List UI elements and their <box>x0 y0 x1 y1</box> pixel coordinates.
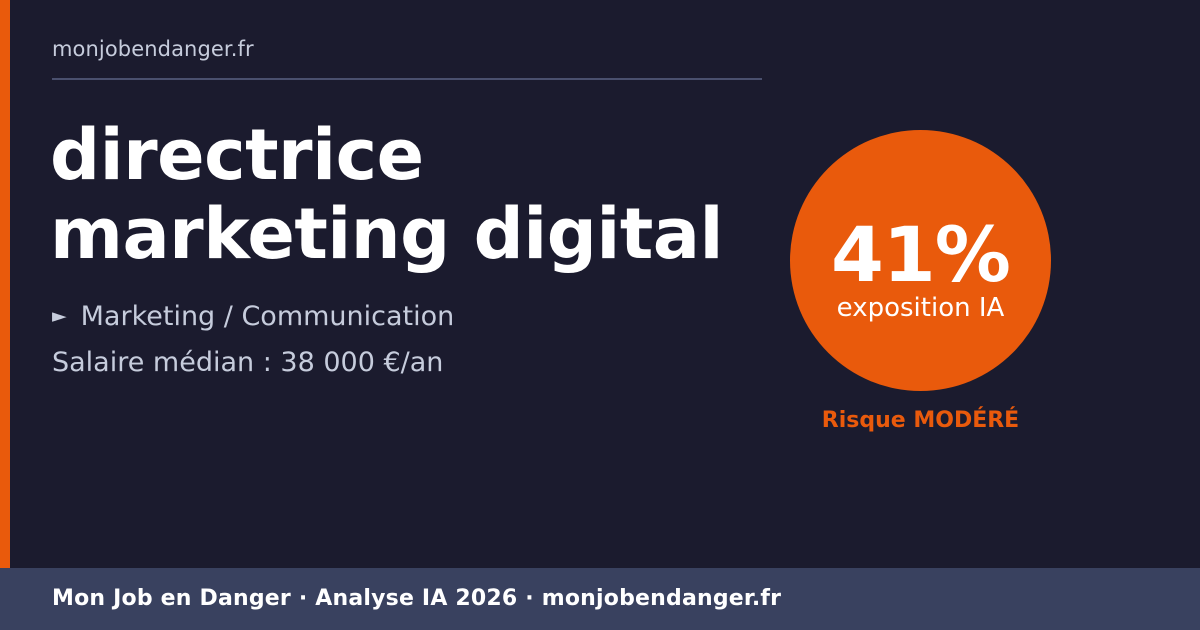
share-card: monjobendanger.fr directrice marketing d… <box>0 0 1200 630</box>
risk-status-badge: Risque MODÉRÉ <box>790 408 1051 434</box>
left-accent-bar <box>0 0 10 568</box>
header-divider <box>52 78 762 80</box>
sector-line: ►Marketing / Communication <box>52 301 454 333</box>
brand-label: monjobendanger.fr <box>52 39 254 60</box>
salary-label: Salaire médian : 38 000 €/an <box>52 347 443 379</box>
triangle-right-icon: ► <box>52 305 67 328</box>
footer-text: Mon Job en Danger · Analyse IA 2026 · mo… <box>52 588 781 610</box>
exposure-score-value: 41% <box>831 217 1010 293</box>
sector-label: Marketing / Communication <box>81 301 455 332</box>
page-title: directrice marketing digital <box>50 116 750 274</box>
exposure-score-badge: 41% exposition IA <box>790 130 1051 391</box>
footer-bar: Mon Job en Danger · Analyse IA 2026 · mo… <box>0 568 1200 630</box>
exposure-score-caption: exposition IA <box>837 295 1005 321</box>
